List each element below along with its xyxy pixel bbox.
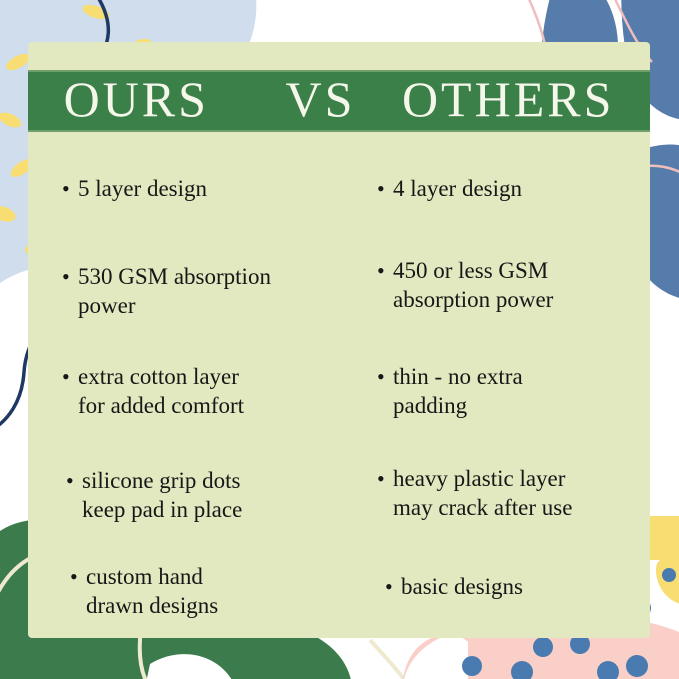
list-item: • thin - no extra padding <box>377 362 523 420</box>
list-item: • extra cotton layer for added comfort <box>62 362 244 420</box>
bullet-icon: • <box>66 466 82 496</box>
page-title: OURS VS OTHERS <box>64 74 615 124</box>
comparison-columns: • 5 layer design • 530 GSM absorption po… <box>28 150 650 638</box>
bullet-icon: • <box>377 464 393 494</box>
list-item-label: custom hand drawn designs <box>86 562 218 620</box>
list-item-label: silicone grip dots keep pad in place <box>82 466 242 524</box>
list-item-label: 530 GSM absorption power <box>78 262 271 320</box>
list-item-label: basic designs <box>401 572 523 601</box>
list-item: • heavy plastic layer may crack after us… <box>377 464 572 522</box>
column-ours: • 5 layer design • 530 GSM absorption po… <box>28 150 339 638</box>
bullet-icon: • <box>62 174 78 204</box>
list-item: • silicone grip dots keep pad in place <box>66 466 242 524</box>
list-item-label: 5 layer design <box>78 174 207 203</box>
list-item: • 450 or less GSM absorption power <box>377 256 553 314</box>
bullet-icon: • <box>70 562 86 592</box>
square-yellow-corner <box>648 516 679 560</box>
bullet-icon: • <box>377 362 393 392</box>
list-item: • 4 layer design <box>377 174 522 204</box>
list-item: • 5 layer design <box>62 174 207 204</box>
bullet-icon: • <box>385 572 401 602</box>
list-item-label: extra cotton layer for added comfort <box>78 362 244 420</box>
bullet-icon: • <box>62 262 78 292</box>
bullet-icon: • <box>377 174 393 204</box>
list-item: • 530 GSM absorption power <box>62 262 271 320</box>
list-item: • basic designs <box>385 572 523 602</box>
bullet-icon: • <box>62 362 78 392</box>
bullet-icon: • <box>377 256 393 286</box>
list-item: • custom hand drawn designs <box>70 562 218 620</box>
list-item-label: 4 layer design <box>393 174 522 203</box>
comparison-header-banner: OURS VS OTHERS <box>28 70 650 132</box>
column-others: • 4 layer design • 450 or less GSM absor… <box>339 150 650 638</box>
list-item-label: 450 or less GSM absorption power <box>393 256 553 314</box>
list-item-label: thin - no extra padding <box>393 362 523 420</box>
list-item-label: heavy plastic layer may crack after use <box>393 464 572 522</box>
